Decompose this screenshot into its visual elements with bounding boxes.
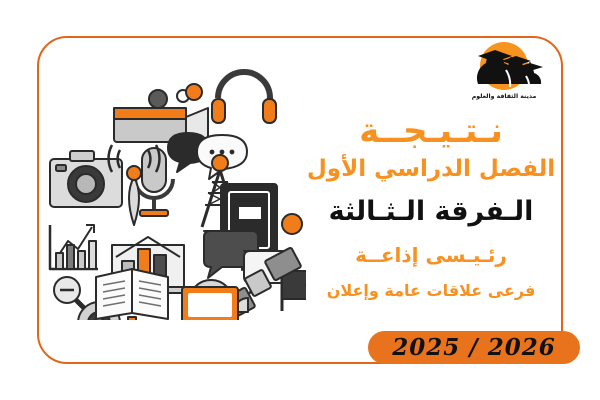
poster-text-column: مدينة الثقافة والعلوم نـتـيـجــة الفصل ا…	[300, 40, 562, 330]
heading-result: نـتـيـجــة	[300, 114, 562, 148]
screen-icon	[182, 287, 238, 320]
speech-bubble-icon	[168, 133, 247, 179]
orange-dot-icon	[282, 214, 302, 234]
photo-camera-icon	[50, 151, 122, 207]
academic-year-badge: 2025 / 2026	[368, 331, 580, 364]
line-graph-icon	[50, 225, 98, 269]
heading-major: رئـيـسى إذاعــة	[300, 245, 562, 265]
microphone-icon	[135, 148, 173, 216]
heading-grade: الـفرقة الـثـالثة	[300, 198, 562, 225]
open-book-icon	[96, 269, 168, 320]
media-icons-collage	[36, 55, 306, 320]
logo-caption: مدينة الثقافة والعلوم	[472, 93, 537, 100]
headphones-icon	[212, 72, 276, 123]
logo: مدينة الثقافة والعلوم	[456, 40, 552, 102]
orange-dot-icon	[186, 84, 202, 100]
heading-minor: فرعى علاقات عامة وإعلان	[300, 283, 562, 299]
heading-term: الفصل الدراسي الأول	[300, 158, 562, 181]
poster-canvas: مدينة الثقافة والعلوم نـتـيـجــة الفصل ا…	[0, 0, 600, 400]
